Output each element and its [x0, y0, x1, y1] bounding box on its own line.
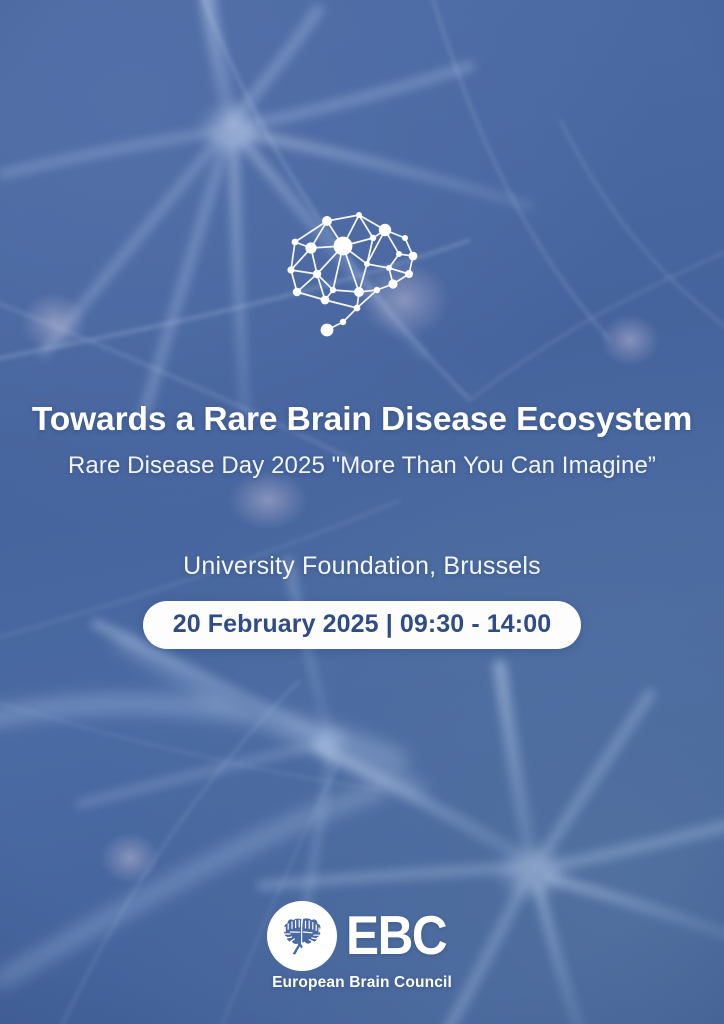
brain-icon	[267, 901, 337, 971]
date-time-badge: 20 February 2025 | 09:30 - 14:00	[143, 601, 581, 649]
event-poster: Towards a Rare Brain Disease Ecosystem R…	[0, 0, 724, 1024]
ebc-tagline: European Brain Council	[252, 974, 472, 992]
ebc-wordmark: EBC	[346, 912, 446, 959]
poster-content: Towards a Rare Brain Disease Ecosystem R…	[0, 0, 724, 1024]
network-brain-icon	[281, 204, 443, 340]
headline-block: Towards a Rare Brain Disease Ecosystem R…	[0, 400, 724, 480]
venue-text: University Foundation, Brussels	[0, 552, 724, 581]
page-title: Towards a Rare Brain Disease Ecosystem	[0, 400, 724, 440]
date-pill-container: 20 February 2025 | 09:30 - 14:00	[0, 601, 724, 649]
page-subtitle: Rare Disease Day 2025 "More Than You Can…	[0, 452, 724, 481]
ebc-logo-row: EBC	[252, 900, 472, 972]
ebc-logo: EBC European Brain Council	[252, 900, 472, 992]
